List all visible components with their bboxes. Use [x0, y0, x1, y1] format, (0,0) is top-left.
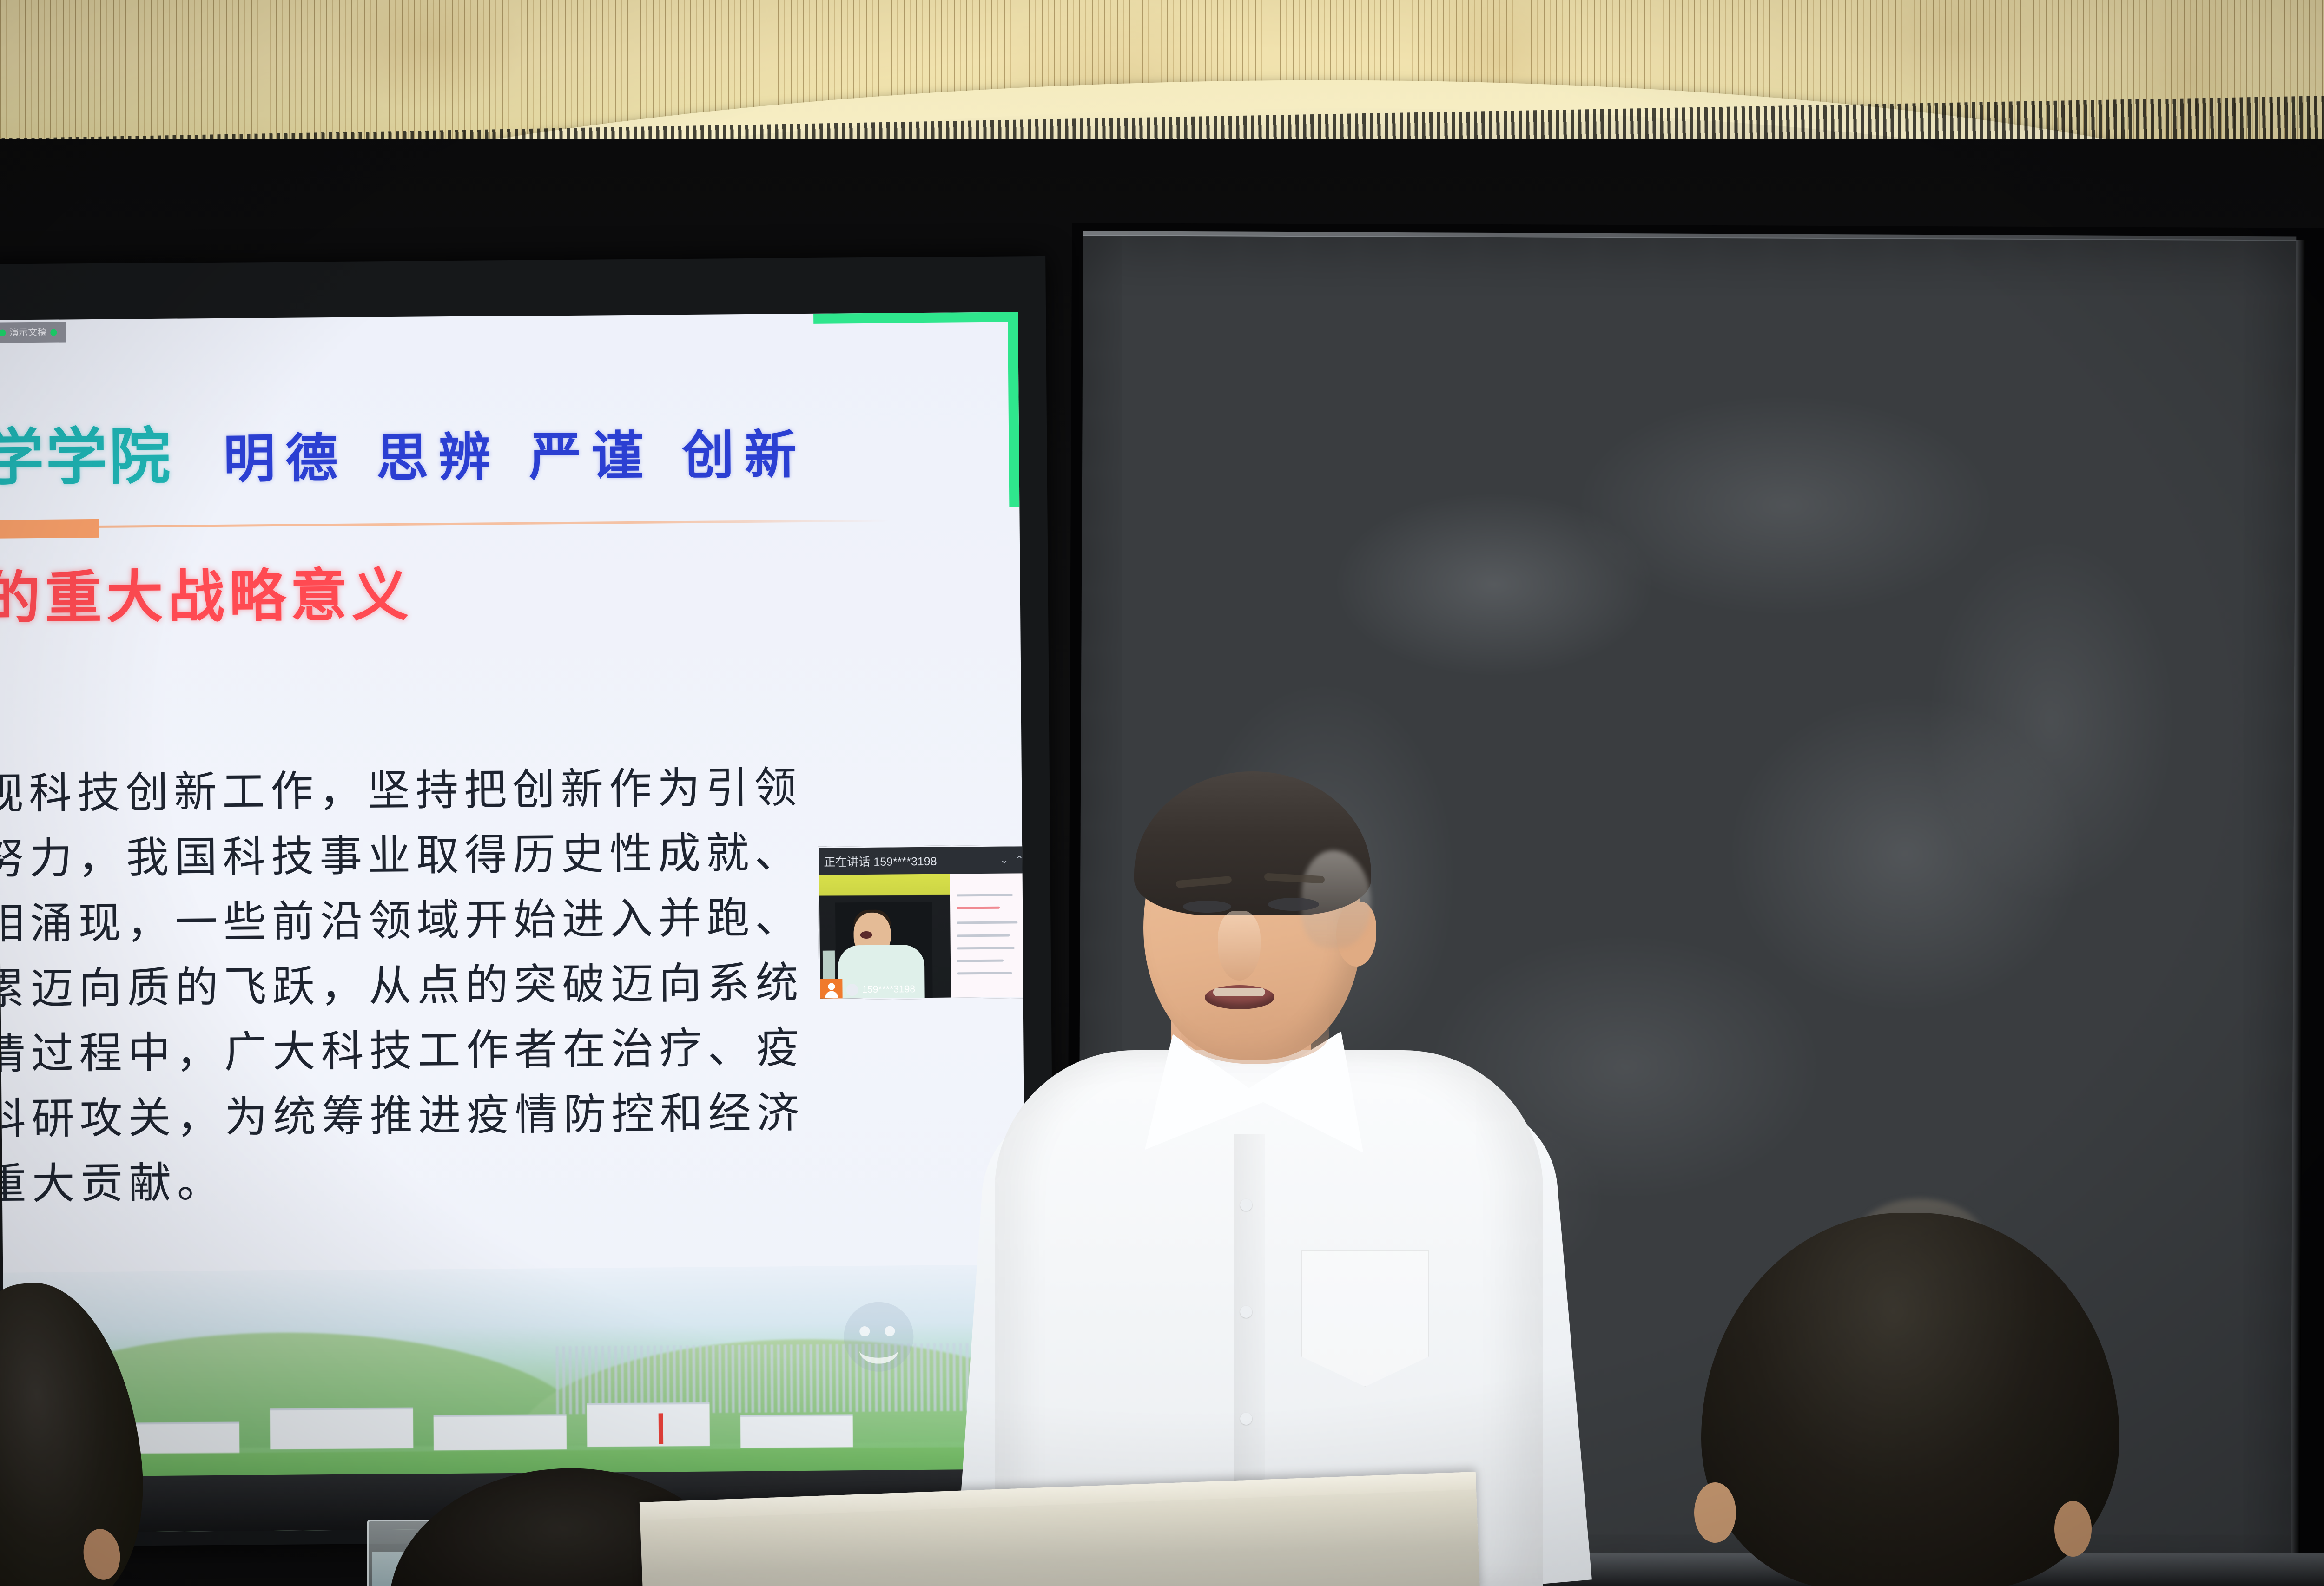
- slide-body-line: 累迈向质的飞跃，从点的突破迈向系统: [0, 948, 1019, 1022]
- slide-body-line: 情过程中，广大科技工作者在治疗、疫: [0, 1013, 1019, 1087]
- presenter-eye-right: [1268, 898, 1319, 911]
- slide-window-chip: 演示文稿: [0, 322, 66, 343]
- slide-motto: 明德 思辨 严谨 创新: [223, 413, 807, 493]
- building: [434, 1414, 567, 1451]
- presenter-eye-left: [1183, 901, 1231, 913]
- shirt-button: [1240, 1306, 1252, 1318]
- slide-title: 的重大战略意义: [0, 549, 413, 635]
- shirt-button: [1240, 1199, 1252, 1211]
- presenter-teeth: [1213, 988, 1265, 996]
- slide-rule-block: [0, 519, 99, 539]
- presenter-chin-shadow: [1181, 1004, 1329, 1064]
- building: [270, 1407, 414, 1449]
- lecture-scene: 演示文稿 学学院 明德 思辨 严谨 创新 的重大战略意义 正在讲话 159***…: [0, 0, 2324, 1586]
- presenter-nose: [1218, 911, 1261, 981]
- building: [587, 1402, 710, 1447]
- slide-body-text: 视科技创新工作，坚持把创新作为引领 努力，我国科技事业取得历史性成就、 相涌现，…: [0, 753, 1020, 1217]
- flagpole: [659, 1413, 664, 1444]
- slide-body-line: 相涌现，一些前沿领域开始进入并跑、: [0, 883, 1018, 957]
- slide-header: 学学院 明德 思辨 严谨 创新: [0, 401, 987, 497]
- slide-body-line: 重大贡献。: [0, 1144, 1020, 1217]
- audience-ear-right-near: [1694, 1482, 1736, 1543]
- slide-body-line: 努力，我国科技事业取得历史性成就、: [0, 818, 1018, 892]
- slide-window-chip-label: 演示文稿: [9, 328, 46, 338]
- building: [740, 1414, 853, 1448]
- slide-rule-line: [99, 520, 890, 528]
- slide-body-line: 科研攻关，为统筹推进疫情防控和经济: [0, 1079, 1020, 1152]
- slide-brand: 学学院: [0, 407, 172, 497]
- status-dot-icon: [0, 329, 6, 336]
- audience-ear-right-far: [2054, 1501, 2092, 1557]
- presentation-slide: 演示文稿 学学院 明德 思辨 严谨 创新 的重大战略意义 正在讲话 159***…: [0, 312, 1028, 1533]
- shirt-button: [1240, 1413, 1252, 1425]
- slide-body-line: 视科技创新工作，坚持把创新作为引领: [0, 753, 1017, 827]
- presenter: [892, 725, 1776, 1586]
- slide-accent-top: [813, 312, 1018, 323]
- status-dot-icon-2: [50, 329, 57, 336]
- slide-accent-side: [1008, 312, 1019, 507]
